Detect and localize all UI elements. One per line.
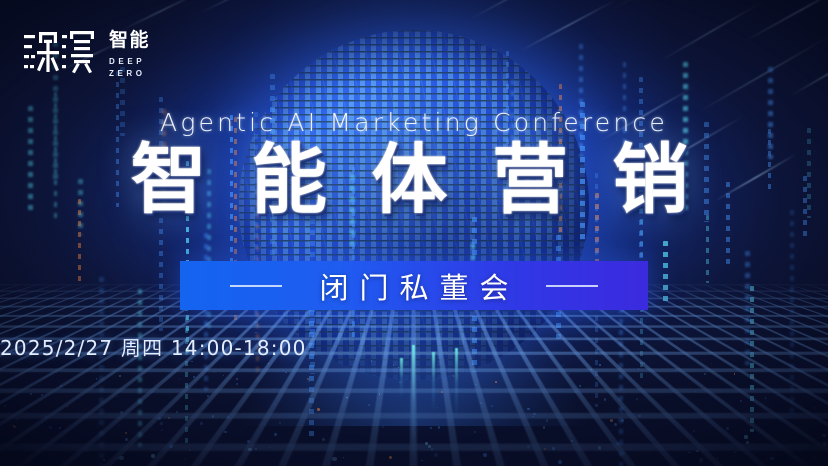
- deepzero-logo-mark: [22, 27, 100, 75]
- event-datetime: 2025/2/27 周四 14:00-18:00: [0, 332, 828, 361]
- logo-en-line-1: DEEP: [109, 56, 146, 68]
- event-poster: 智能 DEEP ZERO Agentic AI Marketing Confer…: [0, 0, 828, 466]
- logo-wordmark: 智能 DEEP ZERO: [109, 27, 150, 79]
- page-title: 智 能 体 营 销: [0, 139, 828, 221]
- logo-en-line-2: ZERO: [109, 68, 146, 80]
- conference-eyebrow: Agentic AI Marketing Conference: [0, 108, 828, 137]
- ribbon-dash-right: [546, 285, 598, 287]
- brand-logo[interactable]: 智能 DEEP ZERO: [22, 27, 150, 79]
- logo-en-name: DEEP ZERO: [109, 56, 146, 79]
- ribbon-dash-left: [230, 285, 282, 287]
- subtitle-ribbon: 闭门私董会: [180, 261, 648, 310]
- logo-cn-name: 智能: [109, 31, 150, 50]
- subtitle-text: 闭门私董会: [308, 265, 519, 307]
